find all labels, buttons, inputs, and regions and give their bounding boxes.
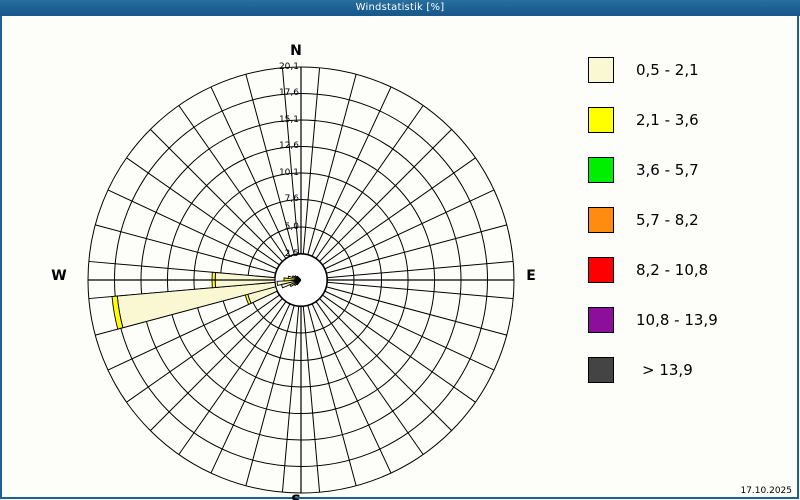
compass-label-south: S xyxy=(283,494,309,500)
grid-spoke xyxy=(327,282,513,298)
grid-spoke xyxy=(316,301,423,454)
calm-circle xyxy=(275,254,327,306)
radial-tick-label: 7,6 xyxy=(269,195,299,204)
compass-label-north: N xyxy=(283,44,309,58)
speed-legend: 0,5 - 2,12,1 - 3,63,6 - 5,75,7 - 8,28,2 … xyxy=(588,45,788,395)
legend-color-swatch xyxy=(588,107,614,133)
radial-tick-label: 2,5 xyxy=(269,250,299,259)
legend-item-label: > 13,9 xyxy=(642,361,693,379)
legend-color-swatch xyxy=(588,57,614,83)
wind-statistics-window: Windstatistik [%] N E S W 2,55,07,610,11… xyxy=(0,0,800,500)
legend-color-swatch xyxy=(588,157,614,183)
grid-spoke xyxy=(95,225,276,273)
legend-item-label: 10,8 - 13,9 xyxy=(636,311,718,329)
grid-spoke xyxy=(150,129,282,261)
legend-item: > 13,9 xyxy=(588,345,788,395)
radial-tick-label: 5,0 xyxy=(269,223,299,232)
legend-item: 8,2 - 10,8 xyxy=(588,245,788,295)
grid-spoke xyxy=(303,68,319,254)
wind-petal-segment xyxy=(117,280,301,328)
compass-label-west: W xyxy=(46,269,72,283)
compass-label-east: E xyxy=(518,269,544,283)
grid-spoke xyxy=(150,298,282,430)
page-title: Windstatistik [%] xyxy=(356,2,445,13)
wind-rose-plot: N E S W 2,55,07,610,112,615,117,620,1 xyxy=(0,16,570,499)
legend-item: 0,5 - 2,1 xyxy=(588,45,788,95)
grid-spoke xyxy=(179,106,286,259)
radial-tick-label: 12,6 xyxy=(269,142,299,151)
grid-spoke xyxy=(282,306,298,492)
grid-spoke xyxy=(303,306,319,492)
legend-item: 2,1 - 3,6 xyxy=(588,95,788,145)
legend-color-swatch xyxy=(588,207,614,233)
grid-spoke xyxy=(326,225,507,273)
grid-spoke xyxy=(179,301,286,454)
radial-tick-label: 10,1 xyxy=(269,169,299,178)
grid-spoke xyxy=(319,298,451,430)
legend-item-label: 8,2 - 10,8 xyxy=(636,261,708,279)
legend-color-swatch xyxy=(588,357,614,383)
legend-item-label: 0,5 - 2,1 xyxy=(636,61,699,79)
grid-spoke xyxy=(246,305,294,486)
radial-tick-label: 15,1 xyxy=(269,116,299,125)
grid-spoke xyxy=(308,74,356,255)
grid-spoke xyxy=(326,287,507,335)
legend-item: 5,7 - 8,2 xyxy=(588,195,788,245)
legend-item: 3,6 - 5,7 xyxy=(588,145,788,195)
grid-spoke xyxy=(327,261,513,277)
date-stamp: 17.10.2025 xyxy=(740,486,792,496)
legend-color-swatch xyxy=(588,307,614,333)
grid-spoke xyxy=(322,295,475,402)
legend-item-label: 3,6 - 5,7 xyxy=(636,161,699,179)
window-title-bar: Windstatistik [%] xyxy=(0,0,800,16)
legend-item: 10,8 - 13,9 xyxy=(588,295,788,345)
legend-item-label: 5,7 - 8,2 xyxy=(636,211,699,229)
legend-color-swatch xyxy=(588,257,614,283)
grid-spoke xyxy=(308,305,356,486)
calm-circle-shape xyxy=(275,254,327,306)
grid-spoke xyxy=(322,158,475,265)
radial-tick-label: 20,1 xyxy=(269,63,299,72)
radial-tick-label: 17,6 xyxy=(269,89,299,98)
grid-spoke xyxy=(316,106,423,259)
legend-item-label: 2,1 - 3,6 xyxy=(636,111,699,129)
grid-spoke xyxy=(319,129,451,261)
grid-spoke xyxy=(127,158,280,265)
